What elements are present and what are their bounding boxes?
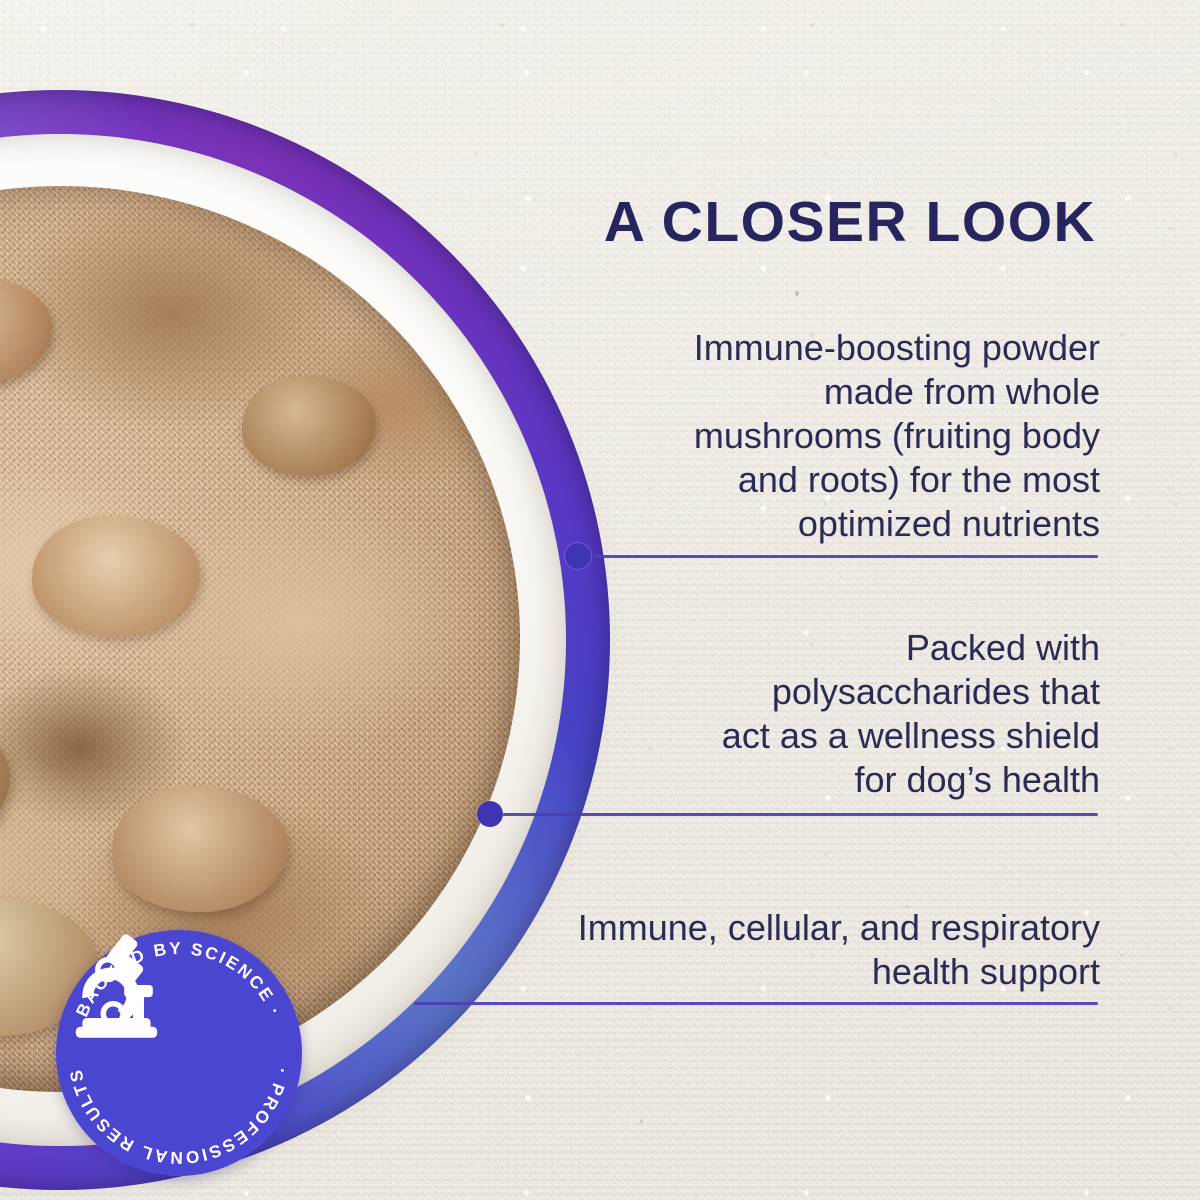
powder-clump xyxy=(112,786,288,912)
feature-text-3: Immune, cellular, and respiratory health… xyxy=(520,906,1100,994)
powder-clump xyxy=(242,376,376,476)
feature-text-2: Packed with polysaccharides that act as … xyxy=(660,626,1100,802)
feature-1-connector-line xyxy=(585,555,1098,558)
infographic-canvas: A CLOSER LOOK Immune-boosting powder mad… xyxy=(0,0,1200,1200)
feature-3-line-1: Immune, cellular, and respiratory xyxy=(520,906,1100,950)
feature-1-line-3: mushrooms (fruiting body xyxy=(618,414,1100,458)
feature-2-line-4: for dog’s health xyxy=(660,758,1100,802)
powder-clump xyxy=(0,276,52,384)
feature-2-line-1: Packed with xyxy=(660,626,1100,670)
feature-1-line-4: and roots) for the most xyxy=(618,458,1100,502)
badge-ring-text-bottom: · PROFESSIONAL RESULTS xyxy=(65,1066,293,1168)
feature-2-connector-line xyxy=(497,813,1098,816)
powder-clump xyxy=(32,516,200,636)
feature-3-line-2: health support xyxy=(520,950,1100,994)
feature-text-1: Immune-boosting powder made from whole m… xyxy=(618,326,1100,546)
paper-speck xyxy=(640,1120,643,1124)
feature-1-line-5: optimized nutrients xyxy=(618,502,1100,546)
microscope-icon xyxy=(56,930,166,1040)
backed-by-science-badge: BACKED BY SCIENCE · · PROFESSIONAL RESUL… xyxy=(56,930,302,1176)
feature-1-connector-dot xyxy=(565,543,591,569)
page-title: A CLOSER LOOK xyxy=(600,192,1100,252)
feature-1-line-1: Immune-boosting powder xyxy=(618,326,1100,370)
feature-2-line-3: act as a wellness shield xyxy=(660,714,1100,758)
powder-clump xyxy=(0,706,10,856)
feature-2-line-2: polysaccharides that xyxy=(660,670,1100,714)
paper-speck xyxy=(795,291,799,296)
feature-1-line-2: made from whole xyxy=(618,370,1100,414)
feature-2-connector-dot xyxy=(477,801,503,827)
feature-3-connector-line xyxy=(414,1002,1098,1005)
